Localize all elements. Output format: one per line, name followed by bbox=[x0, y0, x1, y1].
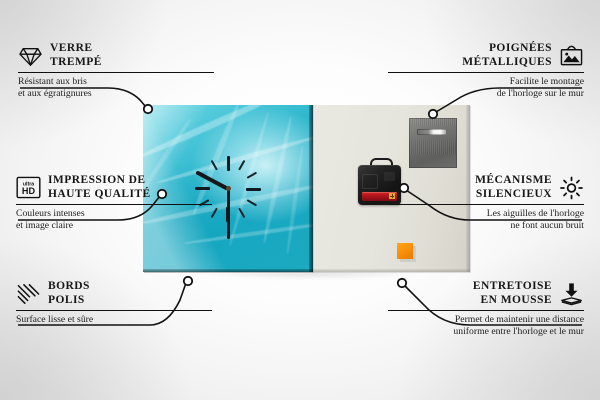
callout-poignees-metalliques: POIGNÉES MÉTALLIQUES Facilite le montage… bbox=[388, 42, 584, 100]
callout-subtitle-line1: Permet de maintenir une distance bbox=[388, 314, 584, 326]
clock-minute-hand bbox=[227, 189, 230, 239]
callout-rule bbox=[388, 204, 584, 205]
callout-mecanisme-silencieux: MÉCANISME SILENCIEUX Les aiguilles de l'… bbox=[388, 174, 584, 232]
gear-icon bbox=[559, 175, 584, 200]
diagonal-stripes-icon bbox=[16, 281, 41, 306]
callout-header: BORDS POLIS bbox=[16, 280, 212, 307]
callout-header: ultra HD IMPRESSION DE HAUTE QUALITÉ bbox=[16, 174, 212, 201]
callout-subtitle-line1: Couleurs intenses bbox=[16, 208, 212, 220]
foam-spacer bbox=[397, 243, 413, 259]
callout-title: POIGNÉES MÉTALLIQUES bbox=[462, 42, 552, 69]
back-panel-bottom-edge bbox=[313, 269, 470, 272]
callout-subtitle-line2: uniforme entre l'horloge et le mur bbox=[388, 326, 584, 338]
callout-header: ENTRETOISE EN MOUSSE bbox=[388, 280, 584, 307]
callout-title: ENTRETOISE EN MOUSSE bbox=[473, 280, 552, 307]
callout-title: IMPRESSION DE HAUTE QUALITÉ bbox=[48, 174, 151, 201]
callout-subtitle-line1: Facilite le montage bbox=[388, 76, 584, 88]
callout-header: MÉCANISME SILENCIEUX bbox=[388, 174, 584, 201]
callout-rule bbox=[388, 310, 584, 311]
callout-subtitle-line2: et image claire bbox=[16, 220, 212, 232]
metallic-hanger-plate bbox=[409, 118, 457, 168]
callout-rule bbox=[16, 204, 212, 205]
callout-title: MÉCANISME SILENCIEUX bbox=[475, 174, 552, 201]
svg-text:HD: HD bbox=[22, 186, 36, 196]
callout-subtitle-line2: de l'horloge sur le mur bbox=[388, 88, 584, 100]
diamond-icon bbox=[18, 43, 43, 68]
callout-subtitle-line1: Les aiguilles de l'horloge bbox=[388, 208, 584, 220]
callout-rule bbox=[16, 310, 212, 311]
callout-subtitle-line1: Surface lisse et sûre bbox=[16, 314, 212, 326]
callout-subtitle-line2: ne font aucun bruit bbox=[388, 220, 584, 232]
mechanism-seam bbox=[362, 174, 378, 189]
clock-center-pin bbox=[226, 186, 231, 191]
arrow-down-pad-icon bbox=[559, 281, 584, 306]
callout-entretoise-en-mousse: ENTRETOISE EN MOUSSE Permet de maintenir… bbox=[388, 280, 584, 338]
callout-rule bbox=[388, 72, 584, 73]
callout-title: BORDS POLIS bbox=[48, 280, 90, 307]
clock-bottom-edge bbox=[143, 269, 313, 272]
callout-impression-haute-qualite: ultra HD IMPRESSION DE HAUTE QUALITÉ Cou… bbox=[16, 174, 212, 232]
callout-subtitle-line1: Résistant aux bris bbox=[18, 76, 214, 88]
callout-subtitle-line2: et aux égratignures bbox=[18, 88, 214, 100]
callout-header: POIGNÉES MÉTALLIQUES bbox=[388, 42, 584, 69]
ultra-hd-icon: ultra HD bbox=[16, 175, 41, 200]
picture-hanger-icon bbox=[559, 43, 584, 68]
infographic-canvas: VERRE TREMPÉ Résistant aux bris et aux é… bbox=[0, 0, 600, 400]
callout-rule bbox=[18, 72, 214, 73]
callout-title: VERRE TREMPÉ bbox=[50, 42, 102, 69]
callout-bords-polis: BORDS POLIS Surface lisse et sûre bbox=[16, 280, 212, 326]
callout-header: VERRE TREMPÉ bbox=[18, 42, 214, 69]
callout-verre-trempe: VERRE TREMPÉ Résistant aux bris et aux é… bbox=[18, 42, 214, 100]
hanger-keyhole-slot bbox=[417, 129, 447, 135]
